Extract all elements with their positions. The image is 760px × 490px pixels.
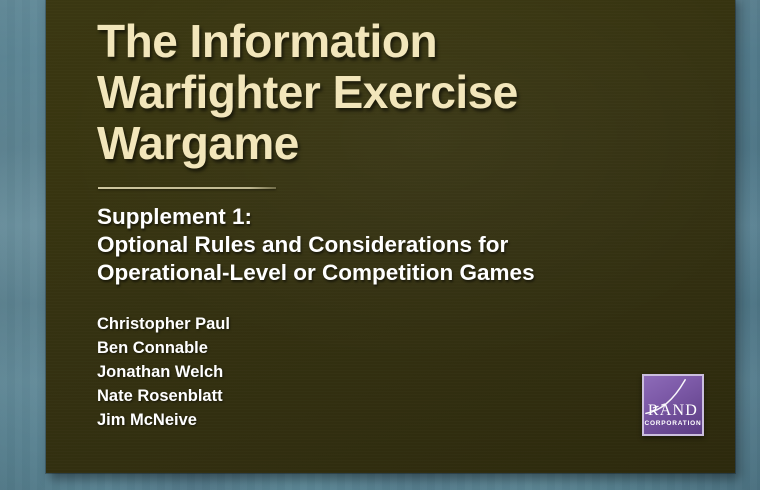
cover-panel: The Information Warfighter Exercise Warg…	[46, 0, 735, 473]
subtitle-line-2: Optional Rules and Considerations for	[97, 231, 697, 259]
author-name: Christopher Paul	[97, 312, 697, 336]
cover-content: The Information Warfighter Exercise Warg…	[97, 0, 697, 432]
subtitle-line-1: Supplement 1:	[97, 203, 697, 231]
author-name: Nate Rosenblatt	[97, 384, 697, 408]
rand-logo-subtext: CORPORATION	[644, 420, 702, 428]
author-list: Christopher Paul Ben Connable Jonathan W…	[97, 312, 697, 432]
title-divider	[98, 187, 276, 189]
subtitle: Supplement 1: Optional Rules and Conside…	[97, 203, 697, 287]
author-name: Jonathan Welch	[97, 360, 697, 384]
author-name: Jim McNeive	[97, 408, 697, 432]
rand-corporation-logo-icon: RAND CORPORATION	[642, 374, 704, 436]
rand-logo-name: RAND	[644, 402, 702, 419]
author-name: Ben Connable	[97, 336, 697, 360]
page-title: The Information Warfighter Exercise Warg…	[97, 0, 637, 169]
subtitle-line-3: Operational-Level or Competition Games	[97, 259, 697, 287]
cover-page: The Information Warfighter Exercise Warg…	[0, 0, 760, 490]
